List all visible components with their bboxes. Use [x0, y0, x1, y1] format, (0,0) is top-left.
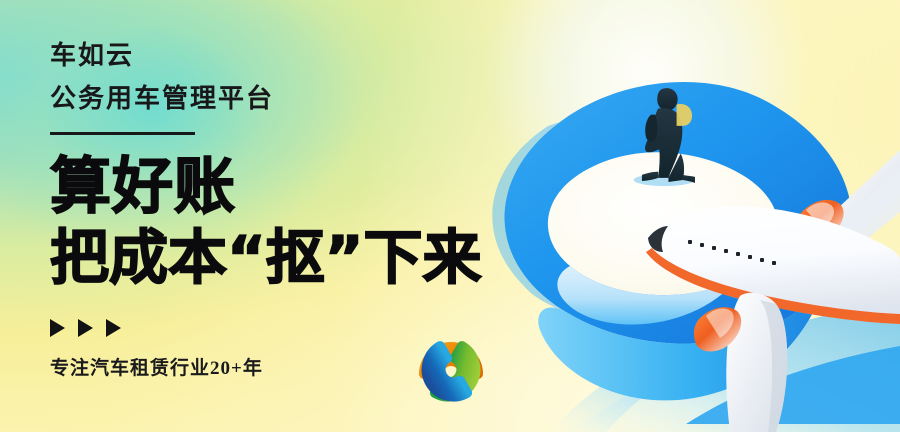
play-triangle-icon: [50, 319, 65, 337]
play-triangle-icon: [106, 319, 121, 337]
bullet-arrows: [50, 319, 610, 337]
tagline: 专注汽车租赁行业20+年: [50, 353, 610, 380]
text-content: 车如云 公务用车管理平台 算好账 把成本“抠”下来 专注汽车租赁行业20+年: [50, 40, 610, 380]
play-triangle-icon: [78, 319, 93, 337]
headline-line-1: 算好账: [50, 155, 610, 220]
divider-rule: [50, 132, 195, 135]
brand-name: 车如云: [50, 40, 610, 73]
cloud-tri-arc-logo: [398, 327, 504, 409]
headline-line-2: 把成本“抠”下来: [50, 227, 610, 290]
brand-platform: 公务用车管理平台: [50, 83, 610, 116]
headline-block: 算好账 把成本“抠”下来: [50, 155, 610, 289]
promo-banner: 车如云 公务用车管理平台 算好账 把成本“抠”下来 专注汽车租赁行业20+年: [0, 0, 900, 432]
